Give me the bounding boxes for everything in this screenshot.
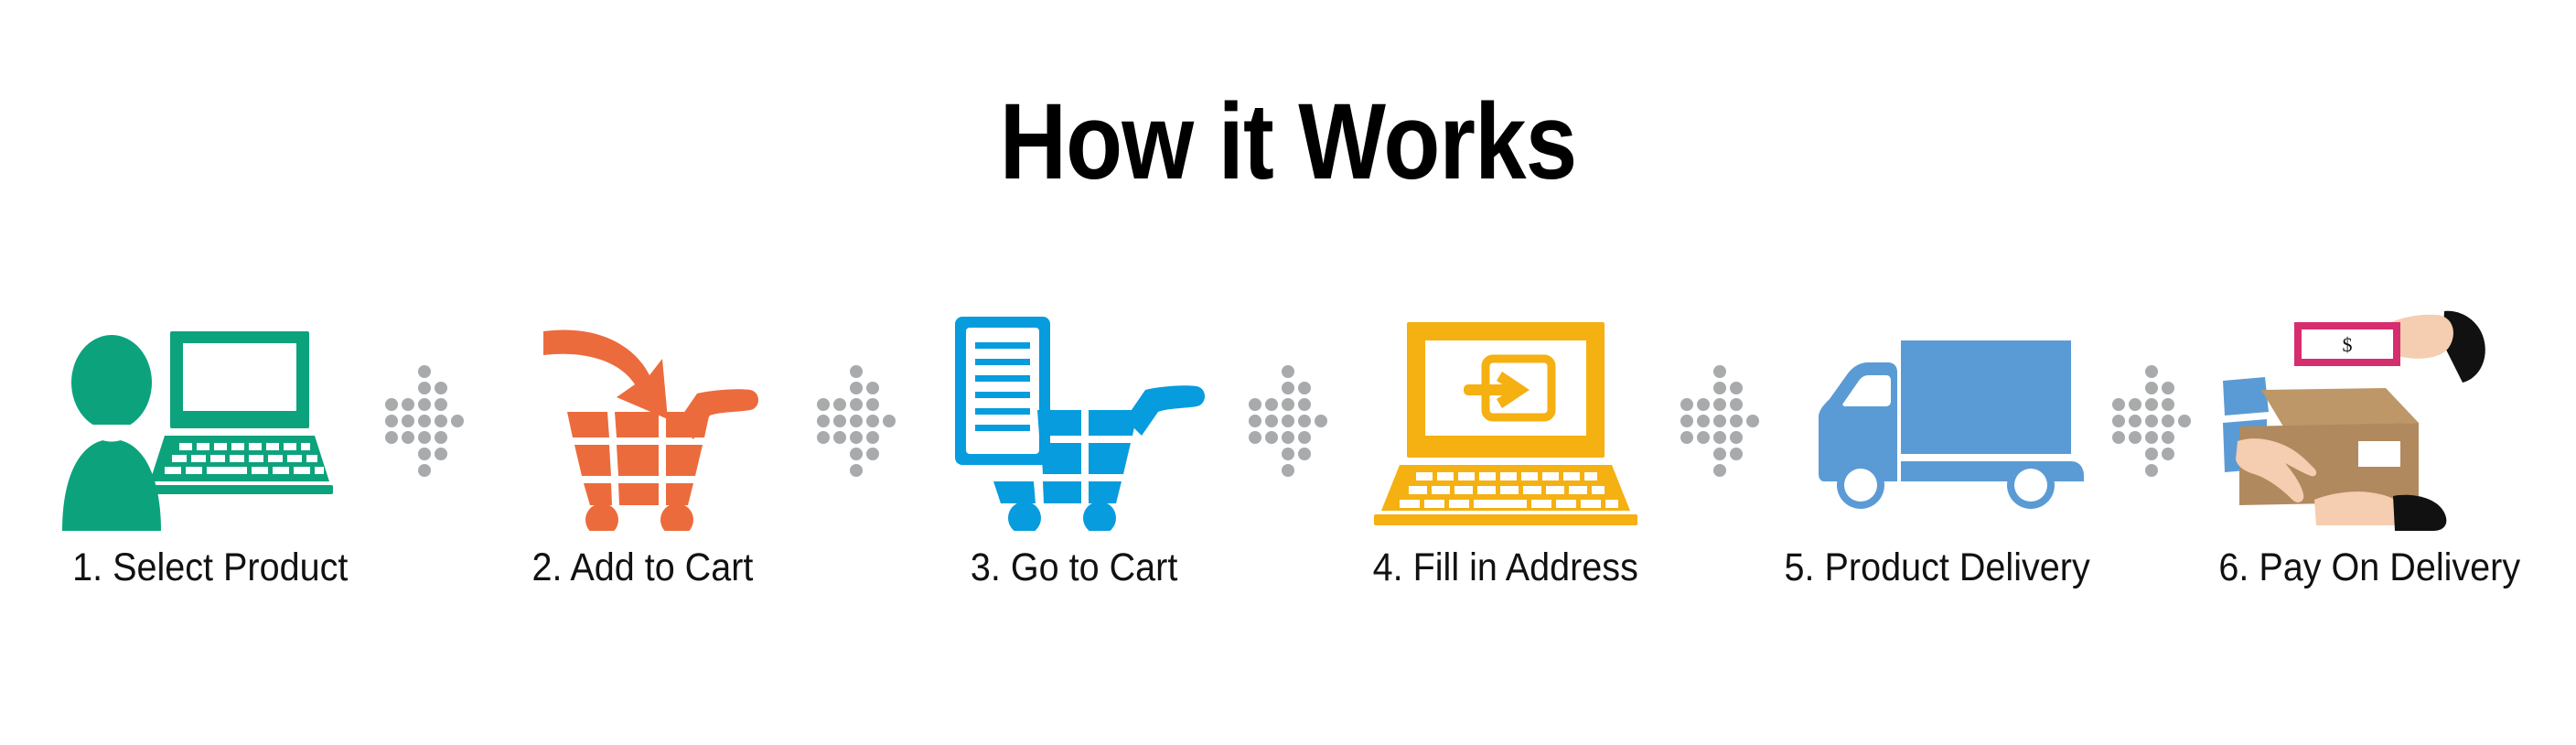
dollar-symbol: $ xyxy=(2343,333,2353,356)
step-label: 1. Select Product xyxy=(72,545,348,590)
box-label xyxy=(2358,441,2400,467)
step-2-add-to-cart[interactable]: 2. Add to Cart xyxy=(487,302,798,632)
dotted-arrow-right-icon xyxy=(1248,302,1332,531)
laptop-login-form-icon xyxy=(1350,302,1661,531)
banknote: $ xyxy=(2294,322,2400,366)
dotted-arrow-right-icon xyxy=(384,302,468,531)
page-title: How it Works xyxy=(180,88,2396,196)
hands-exchanging-box-and-cash-icon: $ xyxy=(2214,302,2525,531)
blue-sleeve-upper xyxy=(2223,377,2269,416)
delivery-truck-icon xyxy=(1782,302,2093,531)
document-and-cart-icon xyxy=(918,302,1229,531)
box-top-face xyxy=(2261,388,2419,426)
step-3-go-to-cart[interactable]: 3. Go to Cart xyxy=(918,302,1229,632)
how-it-works-infographic: How it Works xyxy=(0,0,2576,745)
step-5-product-delivery[interactable]: 5. Product Delivery xyxy=(1782,302,2093,632)
black-sleeve-bottom xyxy=(2393,495,2446,531)
step-label: 5. Product Delivery xyxy=(1785,545,2090,590)
step-label: 6. Pay On Delivery xyxy=(2218,545,2520,590)
dotted-arrow-right-icon xyxy=(1680,302,1764,531)
step-1-select-product[interactable]: 1. Select Product xyxy=(55,302,366,632)
dotted-arrow-right-icon xyxy=(2111,302,2195,531)
step-4-fill-in-address[interactable]: 4. Fill in Address xyxy=(1350,302,1661,632)
steps-row: 1. Select Product xyxy=(55,302,2525,632)
cart-with-arrow-icon xyxy=(487,302,798,531)
step-label: 4. Fill in Address xyxy=(1373,545,1638,590)
person-at-laptop-icon xyxy=(55,302,366,531)
step-label: 3. Go to Cart xyxy=(971,545,1177,590)
step-label: 2. Add to Cart xyxy=(531,545,753,590)
step-6-pay-on-delivery[interactable]: $ 6. Pay On D xyxy=(2214,302,2525,632)
dotted-arrow-right-icon xyxy=(816,302,900,531)
